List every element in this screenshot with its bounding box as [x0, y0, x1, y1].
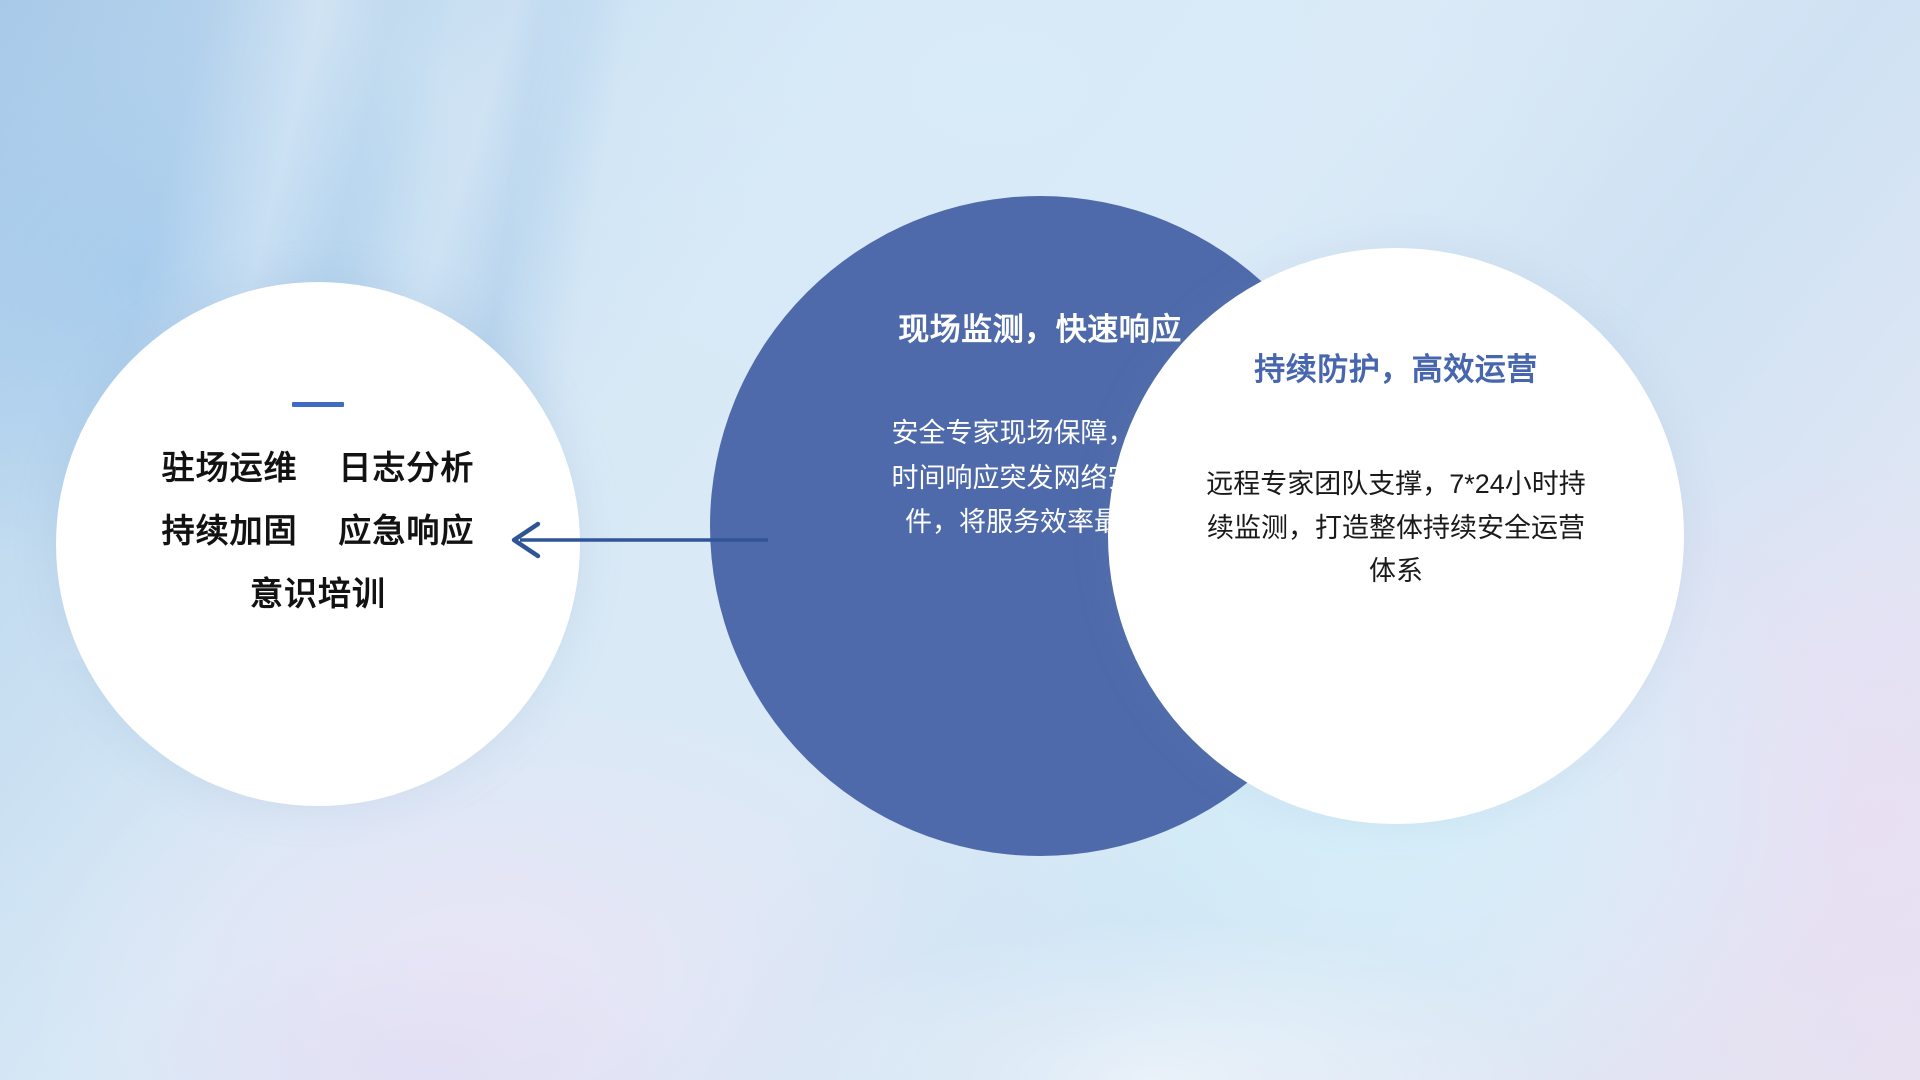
- continuous-protection-title: 持续防护，高效运营: [1254, 344, 1538, 389]
- flow-arrow-icon: [490, 512, 770, 568]
- continuous-protection-body: 远程专家团队支撑，7*24小时持续监测，打造整体持续安全运营体系: [1201, 463, 1591, 594]
- list-item: 驻场运维 日志分析: [56, 451, 580, 484]
- slide-canvas: 驻场运维 日志分析 持续加固 应急响应 意识培训 现场监测，快速响应 安全专家现…: [0, 0, 1920, 1080]
- continuous-protection-circle: 持续防护，高效运营 远程专家团队支撑，7*24小时持续监测，打造整体持续安全运营…: [1108, 248, 1684, 824]
- onsite-monitoring-title: 现场监测，快速响应: [898, 304, 1182, 349]
- divider-line: [292, 402, 344, 407]
- list-item: 意识培训: [56, 577, 580, 610]
